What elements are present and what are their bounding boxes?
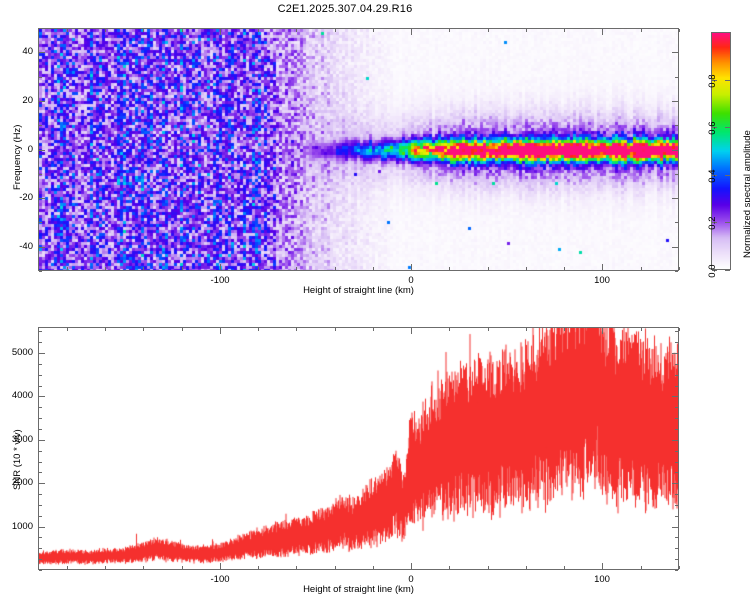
axis-tick [39, 150, 45, 151]
colorbar-label: Normalized spectral amplitude [742, 130, 750, 258]
axis-tick [39, 77, 42, 78]
axis-tick [39, 494, 42, 495]
axis-tick [564, 328, 565, 331]
axis-tick-label: 1000 [7, 521, 33, 532]
snr-trace [39, 328, 678, 569]
axis-tick [675, 364, 678, 365]
axis-tick [39, 28, 42, 29]
axis-tick [105, 267, 106, 270]
axis-tick [39, 247, 45, 248]
axis-tick [220, 29, 221, 35]
axis-tick [564, 267, 565, 270]
axis-tick [602, 29, 603, 35]
axis-tick [679, 267, 680, 270]
axis-tick [39, 472, 42, 473]
axis-tick [672, 396, 678, 397]
axis-tick [488, 328, 489, 331]
snr-ylabel: SNR (10 * v/v) [12, 429, 23, 490]
spectrogram-plot-area [39, 29, 678, 270]
axis-tick [39, 440, 45, 441]
axis-tick-label: -40 [7, 241, 33, 252]
axis-tick [564, 29, 565, 32]
axis-tick [725, 80, 730, 81]
colorbar-gradient [712, 33, 730, 269]
colorbar [711, 32, 731, 270]
axis-tick [641, 328, 642, 331]
axis-tick [672, 247, 678, 248]
axis-tick [641, 267, 642, 270]
axis-tick [143, 566, 144, 569]
axis-tick [143, 267, 144, 270]
colorbar-tick-label: 0.0 [707, 265, 718, 278]
spectrogram-ylabel: Frequency (Hz) [12, 125, 23, 190]
axis-tick [39, 198, 45, 199]
axis-tick [373, 29, 374, 32]
axis-tick [602, 563, 603, 569]
axis-tick [296, 29, 297, 32]
spectrogram-panel [38, 28, 679, 271]
axis-tick [602, 264, 603, 270]
axis-tick [39, 52, 45, 53]
axis-tick [143, 29, 144, 32]
axis-tick [675, 451, 678, 452]
axis-tick [675, 174, 678, 175]
snr-xlabel: Height of straight line (km) [0, 584, 717, 595]
axis-tick [296, 267, 297, 270]
axis-tick [296, 328, 297, 331]
axis-tick [105, 328, 106, 331]
axis-tick [39, 505, 42, 506]
colorbar-tick-label: 0.4 [707, 170, 718, 183]
axis-tick-label: 20 [7, 95, 33, 106]
axis-tick [672, 527, 678, 528]
colorbar-tick-label: 0.2 [707, 217, 718, 230]
axis-tick [411, 328, 412, 334]
axis-tick [182, 566, 183, 569]
axis-tick [526, 267, 527, 270]
axis-tick [39, 342, 42, 343]
axis-tick [602, 328, 603, 334]
axis-tick [39, 125, 42, 126]
axis-tick [39, 364, 42, 365]
axis-tick [449, 29, 450, 32]
axis-tick [641, 566, 642, 569]
axis-tick [672, 52, 678, 53]
axis-tick [39, 386, 42, 387]
axis-tick [675, 342, 678, 343]
axis-tick [258, 566, 259, 569]
axis-tick [675, 271, 678, 272]
axis-tick [39, 548, 42, 549]
axis-tick [672, 440, 678, 441]
axis-tick [39, 396, 45, 397]
axis-tick [675, 386, 678, 387]
axis-tick [67, 267, 68, 270]
axis-tick [679, 29, 680, 32]
axis-tick [679, 328, 680, 331]
axis-tick [220, 563, 221, 569]
snr-panel [38, 327, 679, 570]
axis-tick [564, 566, 565, 569]
figure-title: C2E1.2025.307.04.29.R16 [0, 3, 690, 15]
axis-tick [675, 429, 678, 430]
axis-tick [39, 527, 45, 528]
axis-tick [105, 29, 106, 32]
axis-tick-label: 4000 [7, 390, 33, 401]
axis-tick [488, 267, 489, 270]
axis-tick [672, 353, 678, 354]
axis-tick-label: 40 [7, 46, 33, 57]
axis-tick [488, 566, 489, 569]
axis-tick [672, 150, 678, 151]
axis-tick [526, 29, 527, 32]
axis-tick [39, 516, 42, 517]
axis-tick [258, 328, 259, 331]
axis-tick [672, 198, 678, 199]
axis-tick [39, 570, 42, 571]
axis-tick [725, 222, 730, 223]
axis-tick [335, 267, 336, 270]
axis-tick [725, 270, 730, 271]
axis-tick [105, 566, 106, 569]
axis-tick [220, 328, 221, 334]
axis-tick [39, 331, 42, 332]
axis-tick [488, 29, 489, 32]
axis-tick [67, 29, 68, 32]
axis-tick [675, 462, 678, 463]
axis-tick [335, 29, 336, 32]
axis-tick [39, 375, 42, 376]
axis-tick [725, 127, 730, 128]
axis-tick [675, 516, 678, 517]
axis-tick [39, 559, 42, 560]
axis-tick [39, 353, 45, 354]
axis-tick [675, 570, 678, 571]
axis-tick [39, 101, 45, 102]
axis-tick [675, 548, 678, 549]
colorbar-tick-label: 0.8 [707, 75, 718, 88]
axis-tick [373, 328, 374, 331]
axis-tick [449, 267, 450, 270]
axis-tick [67, 566, 68, 569]
axis-tick [675, 537, 678, 538]
axis-tick [449, 566, 450, 569]
axis-tick [39, 222, 42, 223]
axis-tick [675, 494, 678, 495]
axis-tick [675, 331, 678, 332]
axis-tick [182, 29, 183, 32]
axis-tick [675, 472, 678, 473]
axis-tick [641, 29, 642, 32]
figure-root: C2E1.2025.307.04.29.R16 -100010040200-20… [0, 0, 750, 600]
axis-tick [39, 407, 42, 408]
axis-tick [675, 407, 678, 408]
axis-tick [449, 328, 450, 331]
axis-tick [335, 328, 336, 331]
axis-tick [39, 483, 45, 484]
axis-tick [411, 29, 412, 35]
axis-tick [373, 566, 374, 569]
axis-tick [39, 418, 42, 419]
axis-tick [675, 125, 678, 126]
axis-tick [182, 267, 183, 270]
axis-tick-label: 5000 [7, 347, 33, 358]
axis-tick [39, 429, 42, 430]
axis-tick [675, 28, 678, 29]
axis-tick [39, 271, 42, 272]
axis-tick [258, 267, 259, 270]
axis-tick [675, 222, 678, 223]
axis-tick [679, 566, 680, 569]
axis-tick [143, 328, 144, 331]
axis-tick [672, 483, 678, 484]
axis-tick [526, 328, 527, 331]
axis-tick [39, 537, 42, 538]
axis-tick [526, 566, 527, 569]
axis-tick [411, 264, 412, 270]
axis-tick [67, 328, 68, 331]
axis-tick [411, 563, 412, 569]
axis-tick [675, 559, 678, 560]
axis-tick [675, 375, 678, 376]
axis-tick [39, 462, 42, 463]
axis-tick-label: -20 [7, 192, 33, 203]
spectrogram-xlabel: Height of straight line (km) [0, 285, 717, 296]
axis-tick [182, 328, 183, 331]
axis-tick [220, 264, 221, 270]
axis-tick [675, 418, 678, 419]
axis-tick [39, 451, 42, 452]
axis-tick [296, 566, 297, 569]
axis-tick [672, 101, 678, 102]
spectrogram-image [39, 29, 678, 270]
colorbar-tick-label: 0.6 [707, 122, 718, 135]
axis-tick [373, 267, 374, 270]
axis-tick [675, 505, 678, 506]
snr-plot-area [39, 328, 678, 569]
axis-tick [258, 29, 259, 32]
axis-tick [39, 174, 42, 175]
axis-tick [675, 77, 678, 78]
axis-tick [725, 175, 730, 176]
axis-tick [335, 566, 336, 569]
